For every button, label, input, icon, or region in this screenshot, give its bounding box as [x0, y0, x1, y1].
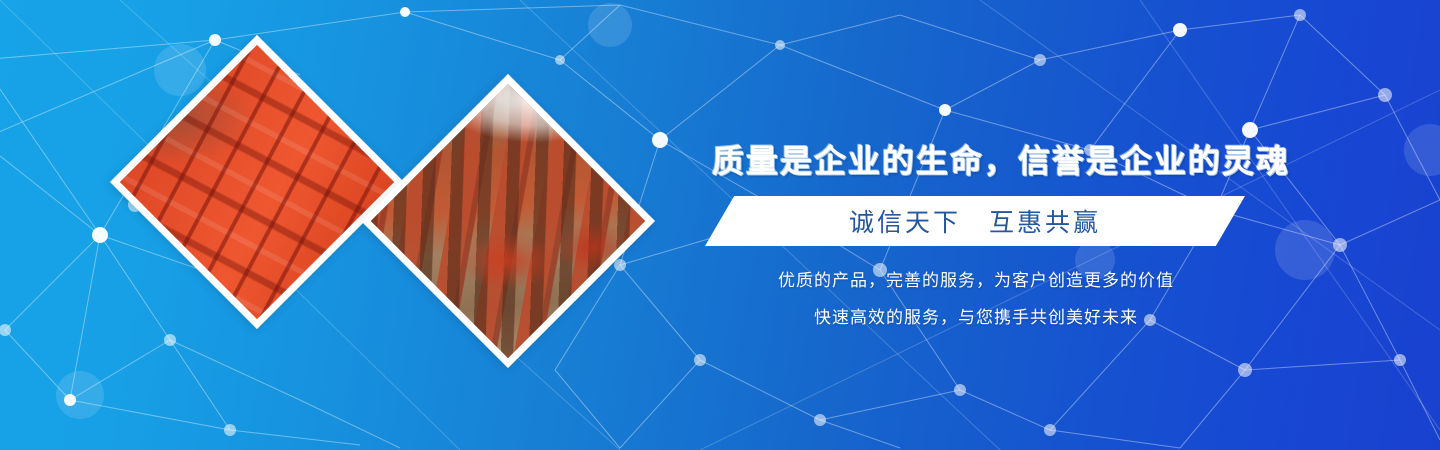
photo-frame-right — [371, 84, 645, 358]
product-image-packed-shafts-pallets — [371, 84, 645, 358]
diamond-photo-right — [361, 74, 655, 368]
diamond-photo-left — [110, 35, 404, 329]
slogan-bar: 诚信天下 互惠共赢 — [705, 196, 1245, 246]
banner-subline-2: 快速高效的服务，与您携手共创美好未来 — [712, 303, 1240, 328]
promo-banner: 质量是企业的生命，信誉是企业的灵魂 诚信天下 互惠共赢 优质的产品，完善的服务，… — [0, 0, 1440, 450]
slogan-text: 诚信天下 互惠共赢 — [705, 196, 1245, 246]
product-image-cardan-shaft-rows — [120, 45, 394, 319]
banner-headline: 质量是企业的生命，信誉是企业的灵魂 — [712, 136, 1240, 182]
photo-frame-left — [120, 45, 394, 319]
banner-subline-1: 优质的产品，完善的服务，为客户创造更多的价值 — [712, 266, 1240, 291]
